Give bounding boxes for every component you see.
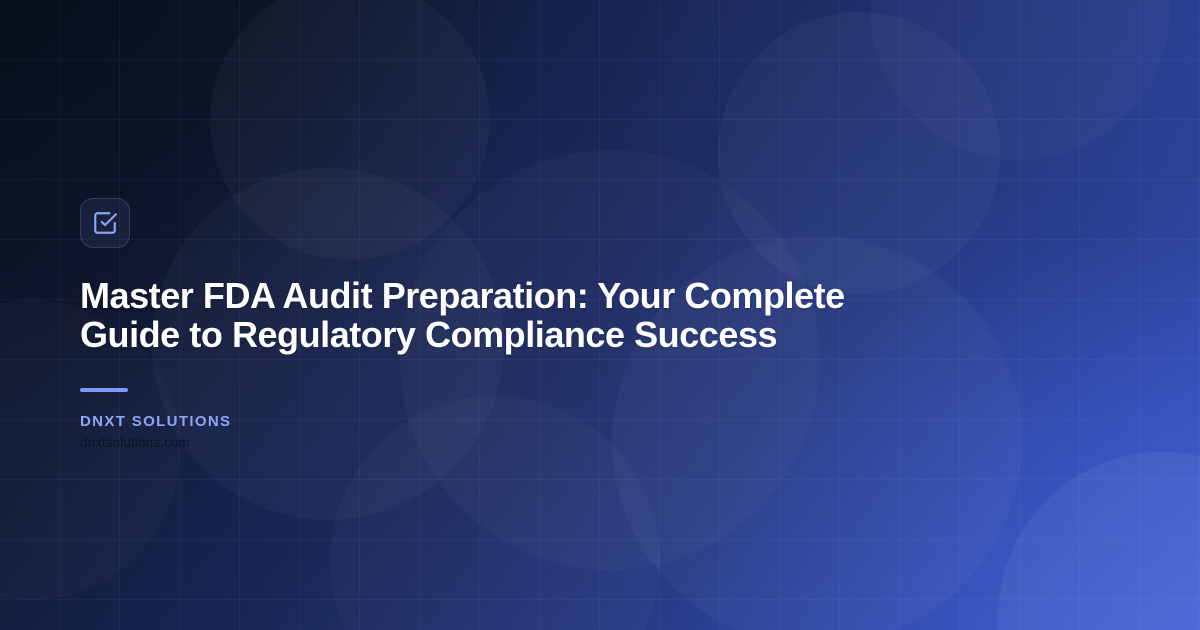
check-square-icon [92, 210, 118, 236]
brand-name: DNXT SOLUTIONS [80, 413, 1080, 430]
accent-divider [80, 388, 128, 392]
page-title: Master FDA Audit Preparation: Your Compl… [80, 248, 910, 354]
card-content: Master FDA Audit Preparation: Your Compl… [80, 198, 1080, 450]
icon-badge [80, 198, 130, 248]
decorative-circle [998, 452, 1200, 630]
social-share-card: Master FDA Audit Preparation: Your Compl… [0, 0, 1200, 630]
brand-website: dnxtsolutions.com [80, 435, 1080, 450]
